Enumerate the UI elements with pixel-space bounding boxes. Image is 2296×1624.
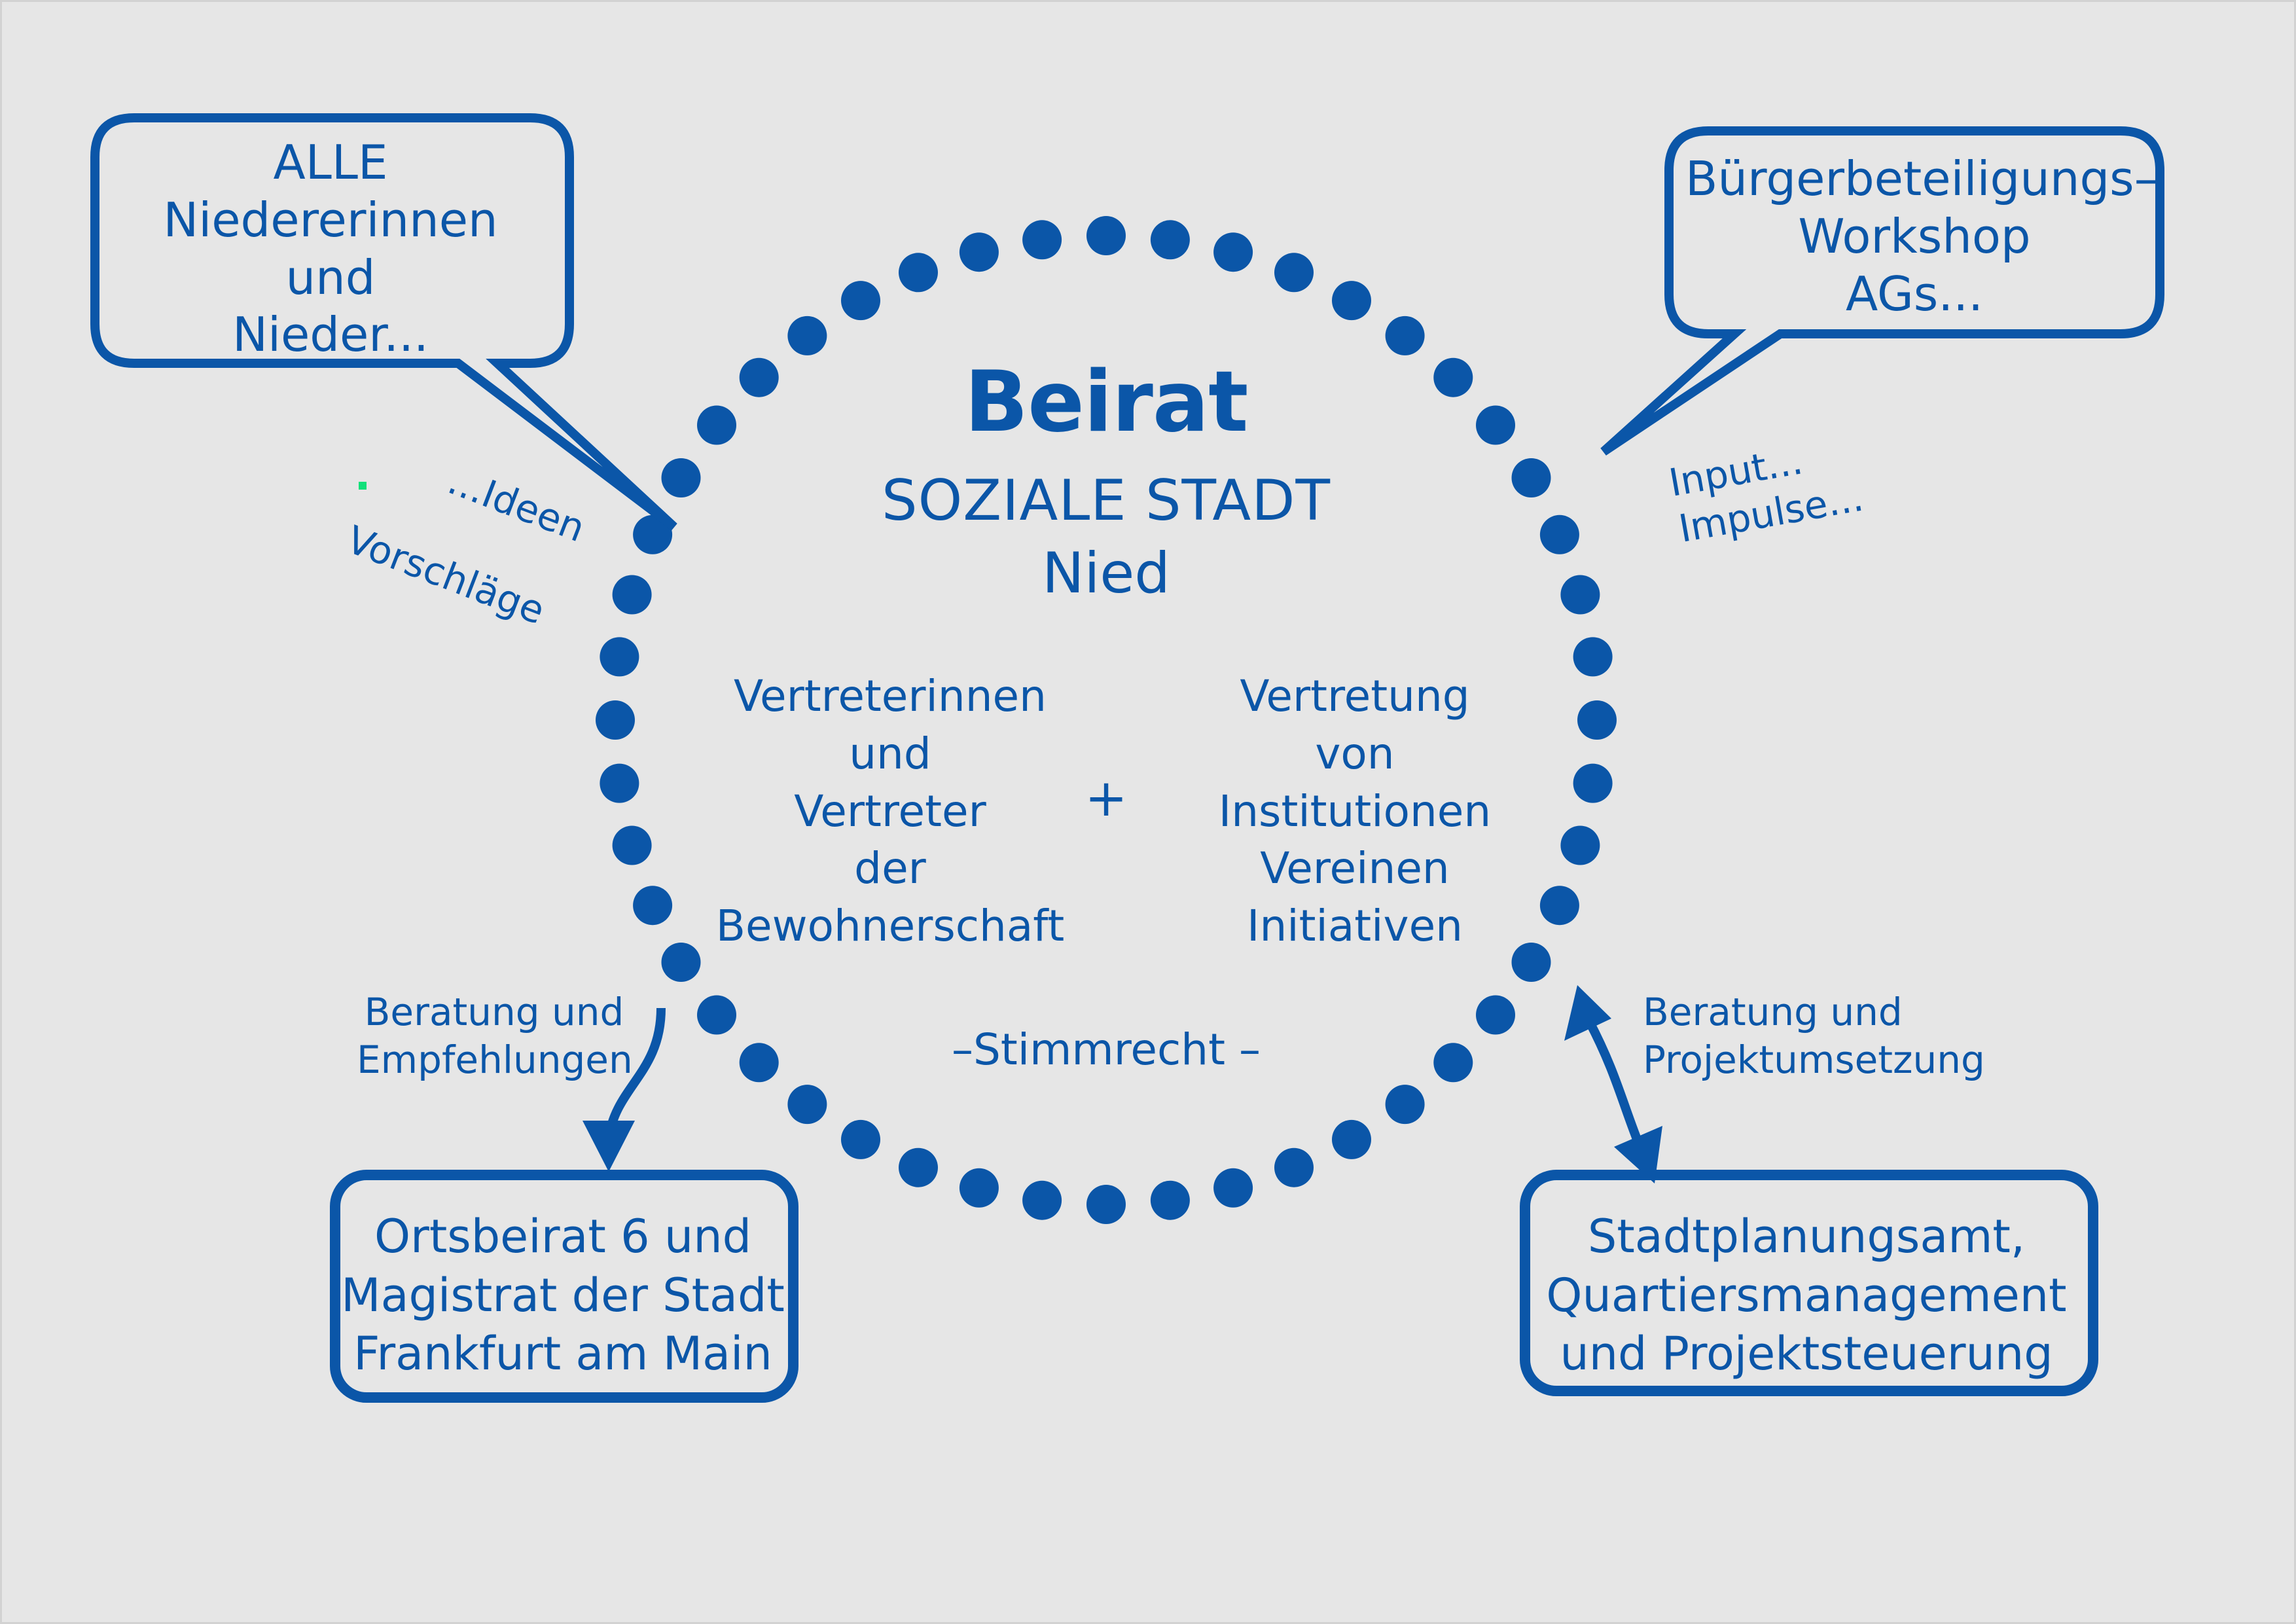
ring-dot: [899, 253, 938, 292]
ring-dot: [600, 637, 639, 676]
ring-dot: [1577, 700, 1617, 740]
members-column-institutions: VertretungvonInstitutionenVereinenInitia…: [1172, 668, 1538, 955]
ring-dot: [899, 1148, 938, 1187]
diagram-canvas: ALLE Niedererinnen und Nieder... Bürgerb…: [0, 0, 2296, 1624]
center-title: Beirat: [779, 353, 1433, 451]
ring-dot: [1332, 281, 1371, 320]
ring-dot: [960, 1168, 999, 1208]
ring-dot: [740, 1043, 779, 1082]
ring-dot: [1560, 826, 1600, 865]
members-column-residents: VertreterinnenundVertreterderBewohnersch…: [707, 668, 1073, 955]
ring-dot: [841, 1120, 880, 1159]
ring-dot: [596, 700, 635, 740]
ring-dot: [1540, 515, 1579, 554]
green-marker-dot: [359, 482, 367, 490]
ring-dot: [1151, 220, 1190, 259]
ring-dot: [787, 316, 827, 355]
box-ortsbeirat-text: Ortsbeirat 6 undMagistrat der StadtFrank…: [334, 1208, 792, 1384]
label-beratung-empfehlungen: Beratung undEmpfehlungen: [357, 988, 632, 1084]
ring-dot: [787, 1085, 827, 1124]
ring-dot: [1560, 575, 1600, 615]
bubble-tl-line1: ALLE: [115, 134, 547, 192]
ring-dot: [1022, 220, 1062, 259]
box-stadtplanungsamt-text: Stadtplanungsamt,Quartiersmanagementund …: [1525, 1208, 2088, 1384]
ring-dot: [1086, 216, 1126, 255]
ring-dot: [600, 764, 639, 803]
ring-dot: [841, 281, 880, 320]
ring-dot: [1433, 1043, 1473, 1082]
ring-dot: [1386, 1085, 1425, 1124]
ring-dot: [1512, 458, 1551, 497]
bubble-tr-line3: AGs...: [1685, 266, 2144, 323]
ring-dot: [1274, 1148, 1314, 1187]
ring-dot: [1332, 1120, 1371, 1159]
center-locality: Nied: [779, 541, 1433, 606]
bubble-top-left-text: ALLE Niedererinnen und Nieder...: [115, 134, 547, 364]
ring-dot: [1213, 232, 1253, 272]
ring-dot: [960, 232, 999, 272]
plus-sign: +: [1073, 769, 1139, 828]
ring-dot: [1573, 637, 1613, 676]
ring-dot: [662, 458, 701, 497]
ring-dot: [1540, 886, 1579, 925]
bubble-tl-line3: Nieder...: [115, 306, 547, 364]
ring-dot: [697, 996, 736, 1035]
bubble-tl-line2: Niedererinnen und: [115, 192, 547, 307]
ring-dot: [1151, 1181, 1190, 1220]
bubble-tr-line1: Bürgerbeteiligungs–: [1685, 151, 2144, 208]
ring-dot: [613, 575, 652, 615]
ring-dot: [1476, 996, 1515, 1035]
bubble-top-right-text: Bürgerbeteiligungs– Workshop AGs...: [1685, 151, 2144, 323]
ring-dot: [613, 826, 652, 865]
ring-dot: [633, 886, 672, 925]
ring-dot: [1476, 406, 1515, 445]
ring-dot: [1386, 316, 1425, 355]
ring-dot: [662, 943, 701, 982]
ring-dot: [740, 358, 779, 397]
ring-dot: [1022, 1181, 1062, 1220]
center-subtitle: SOZIALE STADT: [779, 468, 1433, 533]
label-beratung-projektumsetzung: Beratung undProjektumsetzung: [1643, 988, 1957, 1084]
ring-dot: [1274, 253, 1314, 292]
ring-dot: [1213, 1168, 1253, 1208]
bubble-tr-line2: Workshop: [1685, 208, 2144, 266]
ring-dot: [1573, 764, 1613, 803]
ring-dot: [1086, 1185, 1126, 1224]
ring-dot: [1433, 358, 1473, 397]
ring-dot: [697, 406, 736, 445]
voting-rights-note: –Stimmrecht –: [844, 1024, 1368, 1075]
